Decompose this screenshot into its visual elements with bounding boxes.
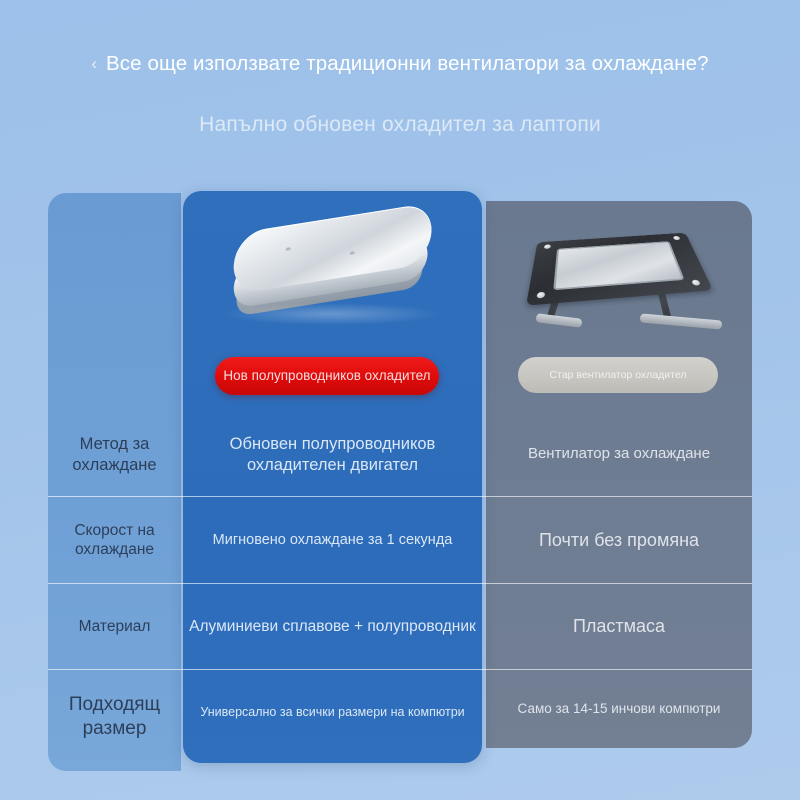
stand-screw xyxy=(691,280,701,286)
fan-cooler-stand-icon xyxy=(522,217,717,335)
cell-old-material: Пластмаса xyxy=(486,584,752,669)
row-label-material: Материал xyxy=(48,584,181,669)
old-product-column[interactable]: Стар вентилатор охладител Вентилатор за … xyxy=(486,201,752,748)
comparison-table: Метод за охлаждане Скорост на охлаждане … xyxy=(0,0,800,800)
cell-old-cooling-method: Вентилатор за охлаждане xyxy=(486,413,752,496)
row-divider xyxy=(48,583,752,584)
stand-foot xyxy=(536,313,583,328)
row-label-suitable-size: Подходящ размер xyxy=(48,670,181,764)
stand-foot xyxy=(640,313,722,329)
row-divider xyxy=(48,669,752,670)
old-product-badge: Стар вентилатор охладител xyxy=(518,357,718,393)
new-product-image xyxy=(183,191,482,351)
row-label-cooling-speed: Скорост на охлаждане xyxy=(48,497,181,583)
stand-screw xyxy=(544,244,551,249)
stand-screw xyxy=(673,236,681,240)
cell-new-material: Алуминиеви сплавове + полупроводник xyxy=(183,584,482,669)
row-divider xyxy=(48,496,752,497)
cell-new-cooling-speed: Мигновено охлаждане за 1 секунда xyxy=(183,497,482,583)
new-product-column[interactable]: Нов полупроводников охладител Обновен по… xyxy=(183,191,482,763)
stand-mesh xyxy=(553,241,684,290)
cooler-glow xyxy=(223,303,439,325)
cell-old-cooling-speed: Почти без промяна xyxy=(486,497,752,583)
new-product-badge: Нов полупроводников охладител xyxy=(215,357,439,395)
cell-new-suitable-size: Универсално за всички размери на компютр… xyxy=(183,670,482,756)
stand-plate xyxy=(526,233,713,306)
old-product-image xyxy=(486,201,752,351)
criteria-column: Метод за охлаждане Скорост на охлаждане … xyxy=(48,193,181,771)
row-label-cooling-method: Метод за охлаждане xyxy=(48,413,181,496)
stand-screw xyxy=(536,292,545,299)
cell-old-suitable-size: Само за 14-15 инчови компютри xyxy=(486,670,752,748)
cell-new-cooling-method: Обновен полупроводников охладителен двиг… xyxy=(183,413,482,496)
